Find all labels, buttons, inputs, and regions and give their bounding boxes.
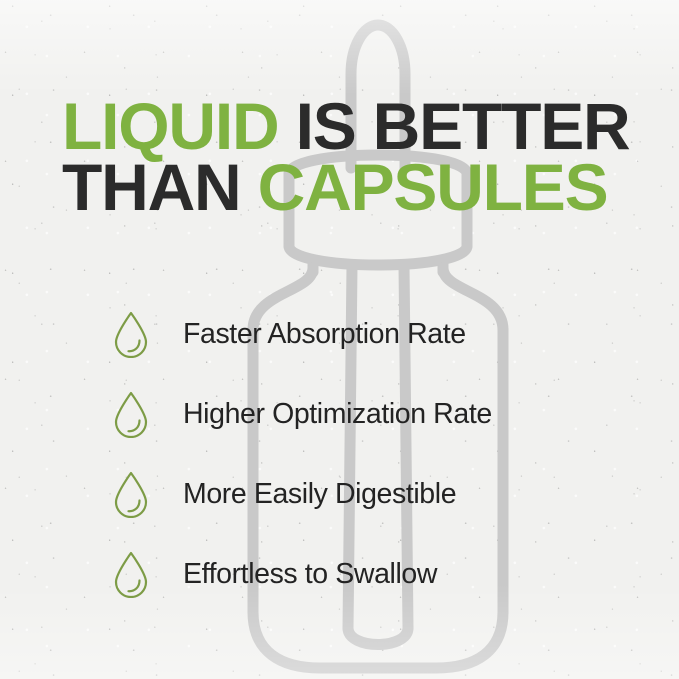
benefits-list: Faster Absorption Rate Higher Optimizati… [112, 294, 632, 614]
benefit-item: More Easily Digestible [112, 454, 632, 534]
water-drop-icon [112, 550, 150, 598]
benefit-label: Higher Optimization Rate [183, 398, 492, 431]
water-drop-icon [112, 470, 150, 518]
water-drop-icon [112, 310, 150, 358]
water-drop-icon [112, 390, 150, 438]
poster-canvas: LIQUID IS BETTER THAN CAPSULES Faster Ab… [0, 0, 679, 679]
headline: LIQUID IS BETTER THAN CAPSULES [62, 96, 622, 217]
pipette-tube-tip [348, 628, 408, 645]
benefit-label: More Easily Digestible [183, 478, 456, 511]
benefit-label: Faster Absorption Rate [183, 318, 466, 351]
body-bottom-path [253, 612, 503, 668]
cap-bottom-path [289, 246, 467, 265]
headline-word-capsules: CAPSULES [241, 150, 608, 224]
benefit-item: Higher Optimization Rate [112, 374, 632, 454]
headline-line-2: THAN CAPSULES [62, 157, 622, 218]
headline-line-1: LIQUID IS BETTER [62, 96, 622, 157]
benefit-item: Faster Absorption Rate [112, 294, 632, 374]
benefit-label: Effortless to Swallow [183, 558, 437, 591]
headline-word-than: THAN [62, 150, 241, 224]
benefit-item: Effortless to Swallow [112, 534, 632, 614]
